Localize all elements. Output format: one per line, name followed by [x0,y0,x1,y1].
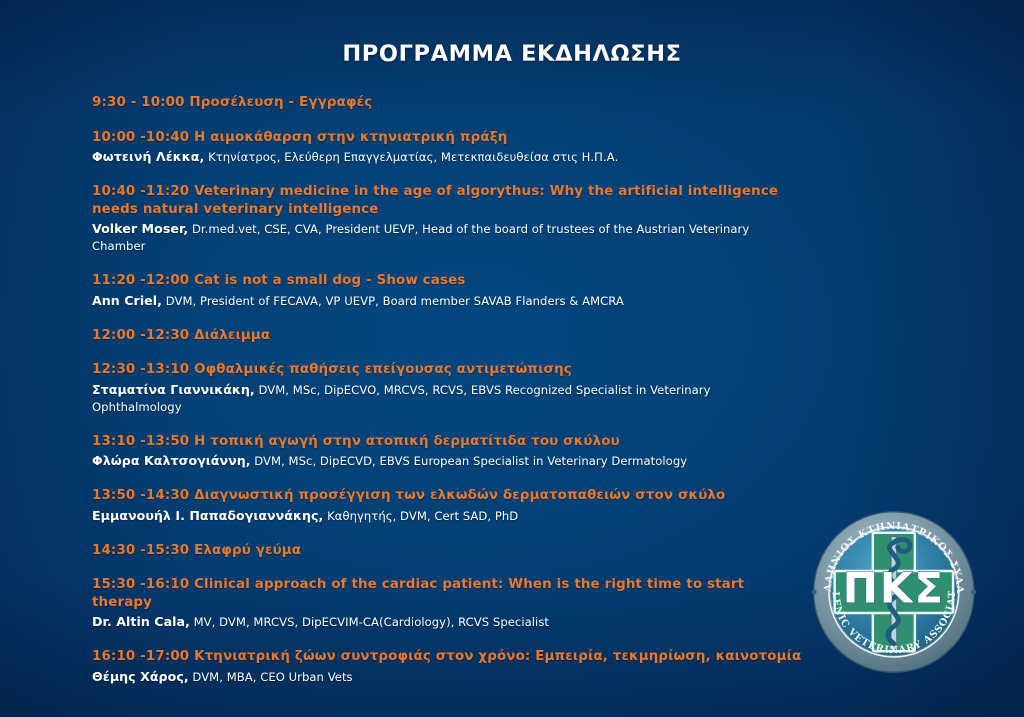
pks-association-logo: ΠΚΣ ΠΑΝΕΛΛΗΝΙΟΣ ΚΤΗΝΙΑΤΡΙΚΟΣ ΣΥΛΛΟΓΟΣ HE… [806,504,997,680]
speaker-name: Φωτεινή Λέκκα, [92,149,204,164]
speaker-credentials: Καθηγητής, DVM, Cert SAD, PhD [323,509,518,523]
schedule-slot: 16:10 -17:00 Κτηνιατρική ζώων συντροφιάς… [92,648,802,686]
slot-speaker: Φλώρα Καλτσογιάννη, DVM, MSc, DipECVD, E… [92,452,802,470]
speaker-credentials: Dr.med.vet, CSE, CVA, President UEVP, He… [92,222,749,253]
speaker-name: Εμμανουήλ Ι. Παπαδογιαννάκης, [92,508,323,523]
logo-ring-dot-right [971,590,976,595]
slot-heading: 9:30 - 10:00 Προσέλευση - Εγγραφές [92,94,802,112]
slot-heading: 10:40 -11:20 Veterinary medicine in the … [92,183,802,218]
schedule-slot: 11:20 -12:00 Cat is not a small dog - Sh… [92,272,802,310]
slot-heading: 15:30 -16:10 Clinical approach of the ca… [92,576,802,611]
speaker-credentials: DVM, MSc, DipECVD, EBVS European Special… [251,454,688,468]
slot-speaker: Σταματίνα Γιαννικάκη, DVM, MSc, DipECVO,… [92,381,802,416]
slot-heading: 12:00 -12:30 Διάλειμμα [92,327,802,345]
event-programme-poster: ΠΡΟΓΡΑΜΜΑ ΕΚΔΗΛΩΣΗΣ 9:30 - 10:00 Προσέλε… [0,0,1024,717]
slot-speaker: Ann Criel, DVM, President of FECAVA, VP … [92,292,802,310]
logo-ring-dot-left [812,590,817,595]
speaker-name: Dr. Altin Cala, [92,614,190,629]
slot-speaker: Εμμανουήλ Ι. Παπαδογιαννάκης, Καθηγητής,… [92,507,802,525]
schedule-slot: 10:40 -11:20 Veterinary medicine in the … [92,183,802,255]
speaker-credentials: MV, DVM, MRCVS, DipECVIM-CA(Cardiology),… [190,615,549,629]
slot-heading: 10:00 -10:40 Η αιμοκάθαρση στην κτηνιατρ… [92,129,802,147]
schedule-slot: 15:30 -16:10 Clinical approach of the ca… [92,576,802,631]
slot-heading: 12:30 -13:10 Οφθαλμικές παθήσεις επείγου… [92,361,802,379]
slot-speaker: Dr. Altin Cala, MV, DVM, MRCVS, DipECVIM… [92,613,802,631]
slot-heading: 13:50 -14:30 Διαγνωστική προσέγγιση των … [92,487,802,505]
page-title: ΠΡΟΓΡΑΜΜΑ ΕΚΔΗΛΩΣΗΣ [0,41,1024,67]
speaker-name: Volker Moser, [92,221,188,236]
speaker-name: Φλώρα Καλτσογιάννη, [92,453,251,468]
schedule-list: 9:30 - 10:00 Προσέλευση - Εγγραφές10:00 … [92,94,802,703]
slot-speaker: Volker Moser, Dr.med.vet, CSE, CVA, Pres… [92,220,802,255]
schedule-slot: 13:50 -14:30 Διαγνωστική προσέγγιση των … [92,487,802,525]
speaker-name: Θέμης Χάρος, [92,669,189,684]
speaker-credentials: DVM, MBA, CEO Urban Vets [189,670,353,684]
speaker-name: Σταματίνα Γιαννικάκη, [92,382,255,397]
speaker-name: Ann Criel, [92,293,162,308]
speaker-credentials: DVM, President of FECAVA, VP UEVP, Board… [162,294,624,308]
logo-center-text: ΠΚΣ [843,564,945,613]
schedule-slot: 14:30 -15:30 Ελαφρύ γεύμα [92,542,802,560]
speaker-credentials: Κτηνίατρος, Ελεύθερη Επαγγελματίας, Μετε… [204,150,618,164]
slot-speaker: Φωτεινή Λέκκα, Κτηνίατρος, Ελεύθερη Επαγ… [92,148,802,166]
schedule-slot: 10:00 -10:40 Η αιμοκάθαρση στην κτηνιατρ… [92,129,802,167]
schedule-slot: 12:30 -13:10 Οφθαλμικές παθήσεις επείγου… [92,361,802,416]
slot-heading: 11:20 -12:00 Cat is not a small dog - Sh… [92,272,802,290]
schedule-slot: 12:00 -12:30 Διάλειμμα [92,327,802,345]
schedule-slot: 9:30 - 10:00 Προσέλευση - Εγγραφές [92,94,802,112]
slot-heading: 13:10 -13:50 Η τοπική αγωγή στην ατοπική… [92,433,802,451]
schedule-slot: 13:10 -13:50 Η τοπική αγωγή στην ατοπική… [92,433,802,471]
slot-heading: 14:30 -15:30 Ελαφρύ γεύμα [92,542,802,560]
slot-speaker: Θέμης Χάρος, DVM, MBA, CEO Urban Vets [92,668,802,686]
slot-heading: 16:10 -17:00 Κτηνιατρική ζώων συντροφιάς… [92,648,802,666]
